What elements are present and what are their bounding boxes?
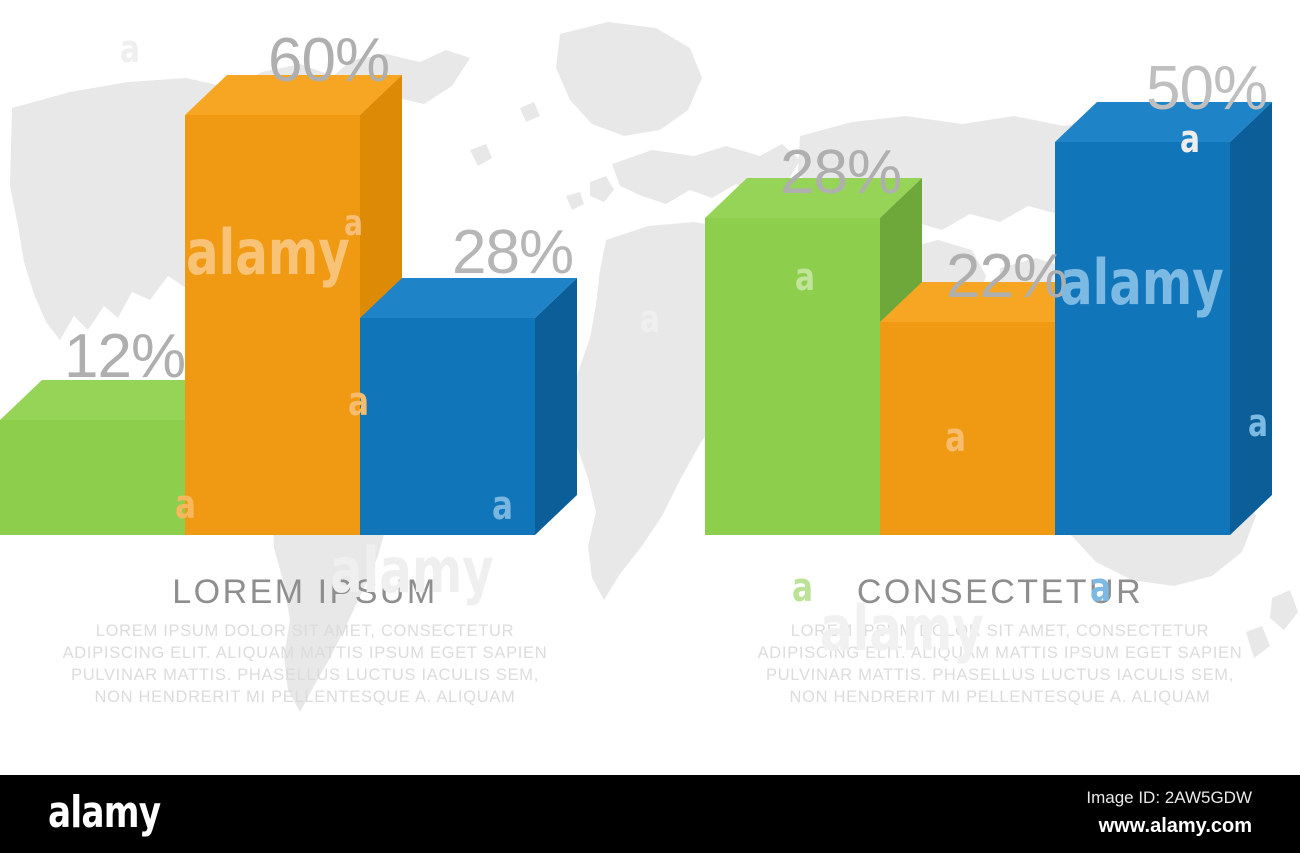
watermark-tile-mark: a [640,300,660,338]
caption-block-left: LOREM IPSUM LOREM IPSUM DOLOR SIT AMET, … [40,575,570,708]
caption-line: NON HENDRERIT MI PELLENTESQUE A. ALIQUAM [735,687,1265,709]
bar-left-blue[interactable] [360,276,577,538]
bar-value-label-left-green: 12% [64,326,185,388]
watermark-tile-mark: a [120,30,140,68]
bar-chart-3d: 12% 60% 28% LOREM IPSUM LOREM IPSUM DOLO… [0,0,1300,775]
caption-line: ADIPISCING ELIT. ALIQUAM MATTIS IPSUM EG… [735,643,1265,665]
bar-value-label-right-orange: 22% [946,246,1067,308]
bar-right-blue[interactable] [1055,100,1272,538]
caption-line: PULVINAR MATTIS. PHASELLUS LUCTUS IACULI… [735,665,1265,687]
caption-line: NON HENDRERIT MI PELLENTESQUE A. ALIQUAM [40,687,570,709]
bar-value-label-left-orange: 60% [268,30,389,92]
caption-body-right: LOREM IPSUM DOLOR SIT AMET, CONSECTETUR … [735,621,1265,709]
alamy-footer-bar: alamy Image ID: 2AW5GDW www.alamy.com [0,775,1300,853]
caption-title-left: LOREM IPSUM [40,575,570,611]
bar-left-green[interactable] [0,378,186,538]
caption-line: LOREM IPSUM DOLOR SIT AMET, CONSECTETUR [735,621,1265,643]
caption-line: ADIPISCING ELIT. ALIQUAM MATTIS IPSUM EG… [40,643,570,665]
alamy-url-text: www.alamy.com [1099,816,1252,836]
caption-body-left: LOREM IPSUM DOLOR SIT AMET, CONSECTETUR … [40,621,570,709]
bar-value-label-left-blue: 28% [452,222,573,284]
image-id-text: Image ID: 2AW5GDW [1086,789,1252,806]
caption-line: LOREM IPSUM DOLOR SIT AMET, CONSECTETUR [40,621,570,643]
caption-block-right: CONSECTETUR LOREM IPSUM DOLOR SIT AMET, … [735,575,1265,708]
infographic-canvas: 12% 60% 28% LOREM IPSUM LOREM IPSUM DOLO… [0,0,1300,853]
bar-value-label-right-blue: 50% [1146,58,1267,120]
caption-title-right: CONSECTETUR [735,575,1265,611]
bar-value-label-right-green: 28% [780,142,901,204]
caption-line: PULVINAR MATTIS. PHASELLUS LUCTUS IACULI… [40,665,570,687]
alamy-logo: alamy [48,791,160,835]
